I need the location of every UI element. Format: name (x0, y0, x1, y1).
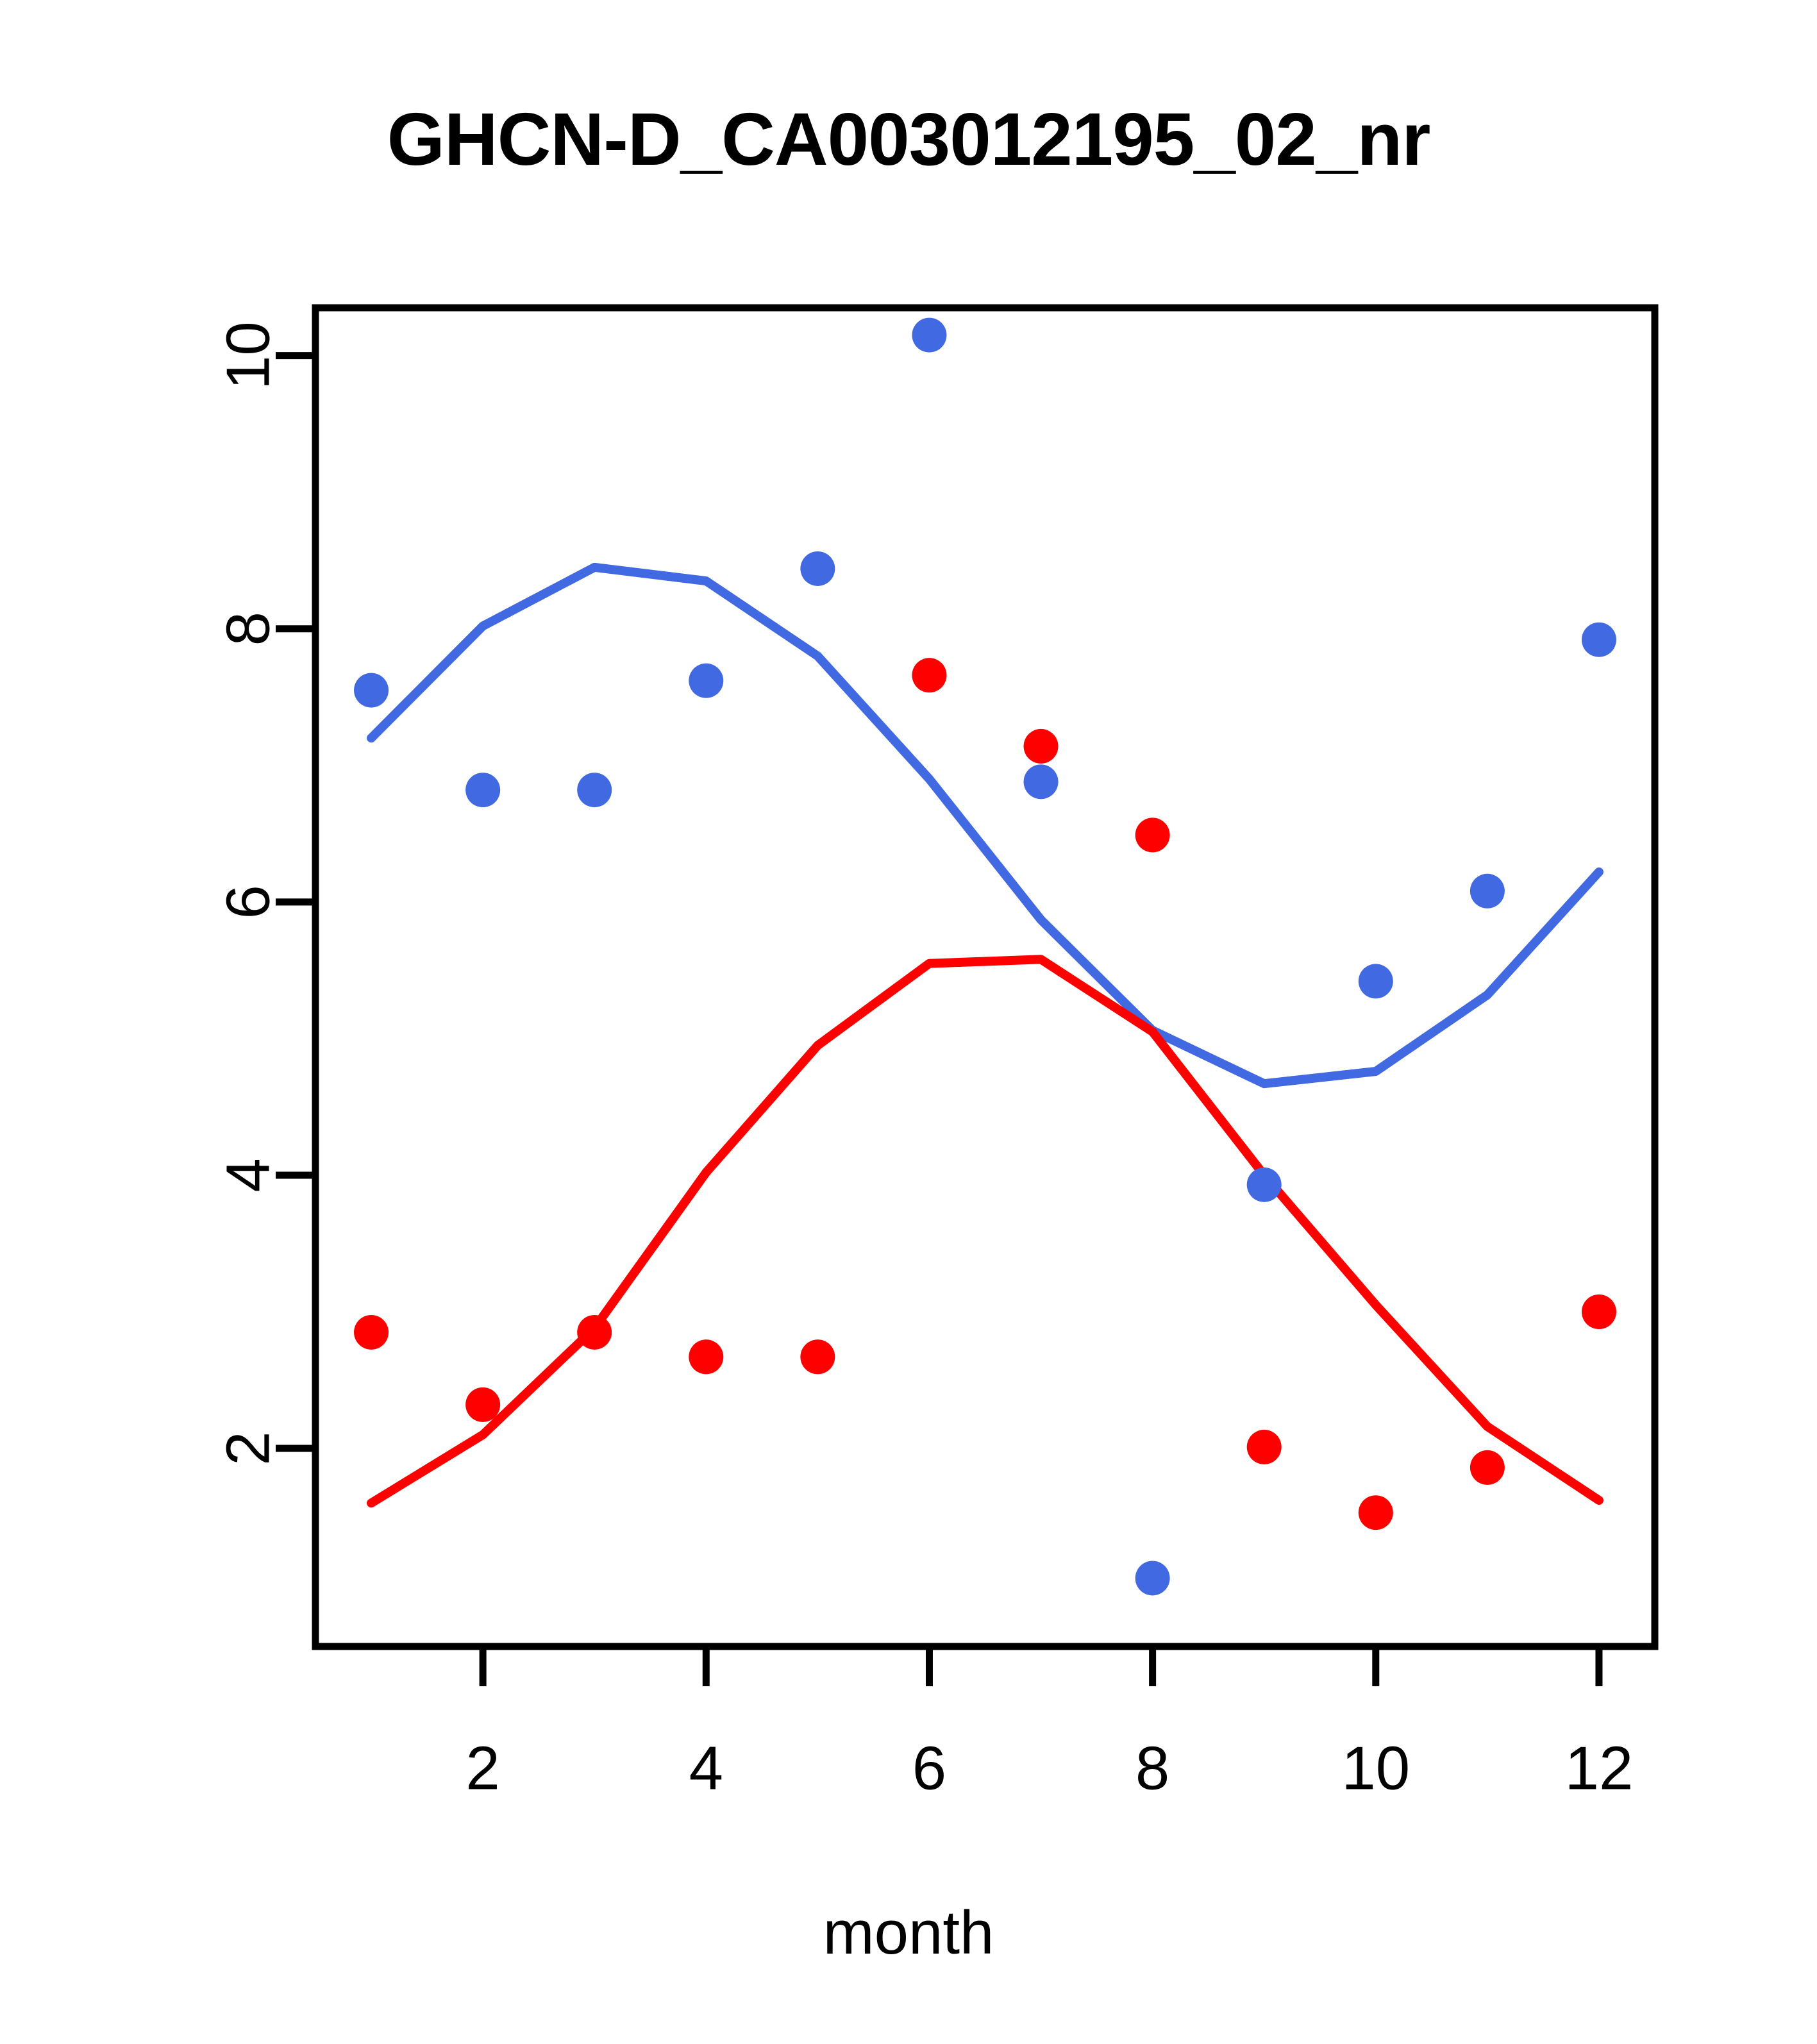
y-tick-label: 2 (214, 1431, 283, 1465)
data-point (465, 1387, 500, 1422)
data-point (1359, 1495, 1393, 1530)
data-point (912, 658, 946, 692)
blue-line (371, 567, 1599, 1084)
x-tick-label: 8 (1135, 1734, 1169, 1803)
x-tick-label: 2 (465, 1734, 499, 1803)
data-point (800, 551, 835, 586)
data-point (577, 1315, 612, 1350)
y-tick-label: 4 (214, 1158, 283, 1192)
data-point (1135, 1561, 1170, 1595)
y-tick-label: 6 (214, 885, 283, 919)
plot-box (315, 308, 1655, 1646)
data-point (1024, 764, 1059, 799)
chart-container: GHCN-D_CA003012195_02_nr 246810 24681012… (0, 0, 1817, 2044)
data-point (689, 664, 723, 698)
blue-points (354, 318, 1616, 1596)
y-tick-label: 10 (214, 321, 283, 390)
data-point (1247, 1430, 1282, 1464)
x-tick-label: 12 (1565, 1734, 1634, 1803)
x-tick-label: 10 (1341, 1734, 1410, 1803)
data-point (912, 318, 946, 353)
data-point (800, 1339, 835, 1374)
data-point (1135, 817, 1170, 852)
data-point (354, 1315, 389, 1350)
x-tick-label: 4 (689, 1734, 723, 1803)
scatter-line-chart: 246810 24681012 (0, 0, 1817, 2044)
x-axis-ticks (483, 1646, 1599, 1686)
y-axis-tick-labels: 246810 (214, 321, 283, 1466)
x-axis-label: month (0, 1898, 1817, 1968)
red-points (354, 658, 1616, 1530)
data-point (1470, 1450, 1505, 1485)
series-points (354, 318, 1616, 1596)
x-axis-tick-labels: 24681012 (465, 1734, 1633, 1803)
y-tick-label: 8 (214, 612, 283, 646)
data-point (1582, 623, 1616, 657)
data-point (354, 673, 389, 708)
data-point (1470, 874, 1505, 909)
plot-frame (315, 308, 1655, 1646)
data-point (1024, 729, 1059, 764)
data-point (1359, 964, 1393, 998)
data-point (465, 773, 500, 807)
data-point (1247, 1168, 1282, 1202)
series-lines (371, 567, 1599, 1503)
x-tick-label: 6 (912, 1734, 946, 1803)
data-point (689, 1339, 723, 1374)
data-point (577, 773, 612, 807)
data-point (1582, 1294, 1616, 1329)
